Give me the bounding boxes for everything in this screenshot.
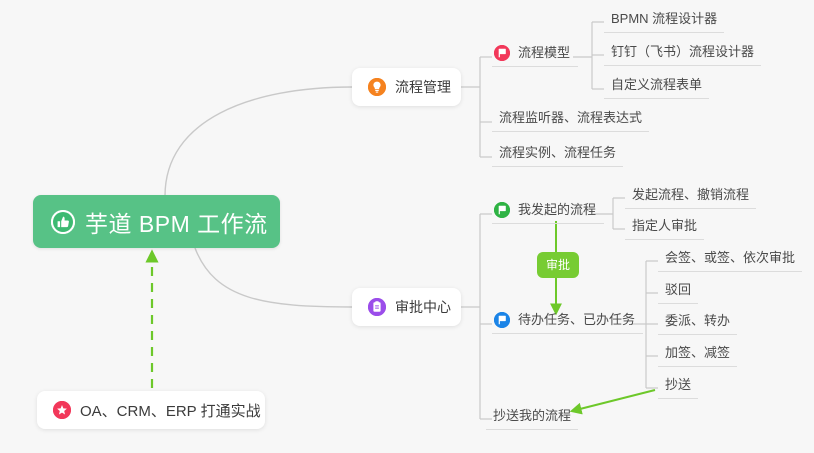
branch-node-flow-management[interactable]: 流程管理 <box>352 68 461 106</box>
node-flow-model[interactable]: 流程模型 <box>492 44 578 67</box>
leaf-custom-form-label: 自定义流程表单 <box>611 77 702 92</box>
leaf-dingtalk-designer[interactable]: 钉钉（飞书）流程设计器 <box>604 43 761 66</box>
leaf-flow-instance[interactable]: 流程实例、流程任务 <box>492 144 623 167</box>
leaf-reject[interactable]: 驳回 <box>658 281 698 304</box>
leaf-start-cancel-flow-label: 发起流程、撤销流程 <box>632 187 749 202</box>
flag-icon <box>494 202 510 218</box>
flag-icon <box>494 45 510 61</box>
lightbulb-icon <box>368 78 386 96</box>
leaf-custom-form[interactable]: 自定义流程表单 <box>604 76 709 99</box>
node-todo-done-tasks-label: 待办任务、已办任务 <box>518 311 635 328</box>
leaf-start-cancel-flow[interactable]: 发起流程、撤销流程 <box>625 186 756 209</box>
leaf-cc[interactable]: 抄送 <box>658 376 698 399</box>
star-icon <box>53 401 71 419</box>
leaf-flow-listener[interactable]: 流程监听器、流程表达式 <box>492 109 649 132</box>
leaf-bpmn-designer[interactable]: BPMN 流程设计器 <box>604 10 724 33</box>
branch-label-flow-management: 流程管理 <box>395 77 451 97</box>
node-my-initiated[interactable]: 我发起的流程 <box>492 201 604 224</box>
leaf-assigned-approval-label: 指定人审批 <box>632 218 697 233</box>
approval-annotation-badge: 审批 <box>537 252 579 278</box>
node-my-initiated-label: 我发起的流程 <box>518 201 596 218</box>
leaf-flow-instance-label: 流程实例、流程任务 <box>499 145 616 160</box>
leaf-cc-to-me-label: 抄送我的流程 <box>493 408 571 423</box>
leaf-cc-to-me[interactable]: 抄送我的流程 <box>486 407 578 430</box>
flag-icon <box>494 312 510 328</box>
mindmap-canvas: 芋道 BPM 工作流 流程管理 流程模型 BPMN 流程设计器 钉钉（飞书）流程… <box>0 0 814 453</box>
leaf-countersign[interactable]: 会签、或签、依次审批 <box>658 249 802 272</box>
leaf-assigned-approval[interactable]: 指定人审批 <box>625 217 704 240</box>
node-flow-model-label: 流程模型 <box>518 44 570 61</box>
root-label: 芋道 BPM 工作流 <box>85 205 268 239</box>
leaf-flow-listener-label: 流程监听器、流程表达式 <box>499 110 642 125</box>
leaf-dingtalk-designer-label: 钉钉（飞书）流程设计器 <box>611 44 754 59</box>
leaf-delegate-transfer-label: 委派、转办 <box>665 313 730 328</box>
leaf-cc-label: 抄送 <box>665 377 691 392</box>
branch-label-approval-center: 审批中心 <box>395 297 451 317</box>
wire-root-to-approval-center <box>195 248 352 307</box>
leaf-countersign-label: 会签、或签、依次审批 <box>665 250 795 265</box>
leaf-delegate-transfer[interactable]: 委派、转办 <box>658 312 737 335</box>
node-todo-done-tasks[interactable]: 待办任务、已办任务 <box>492 311 643 334</box>
node-integration[interactable]: OA、CRM、ERP 打通实战 <box>37 391 265 429</box>
wire-root-to-flow-management <box>165 87 352 196</box>
arrow-cc-to-cc-my-flow <box>572 390 655 411</box>
clipboard-icon <box>368 298 386 316</box>
branch-node-approval-center[interactable]: 审批中心 <box>352 288 461 326</box>
leaf-bpmn-designer-label: BPMN 流程设计器 <box>611 11 717 26</box>
node-integration-label: OA、CRM、ERP 打通实战 <box>80 400 261 421</box>
leaf-reject-label: 驳回 <box>665 282 691 297</box>
thumbs-up-icon <box>51 210 75 234</box>
leaf-add-remove-sign-label: 加签、减签 <box>665 345 730 360</box>
root-node[interactable]: 芋道 BPM 工作流 <box>33 195 280 248</box>
leaf-add-remove-sign[interactable]: 加签、减签 <box>658 344 737 367</box>
